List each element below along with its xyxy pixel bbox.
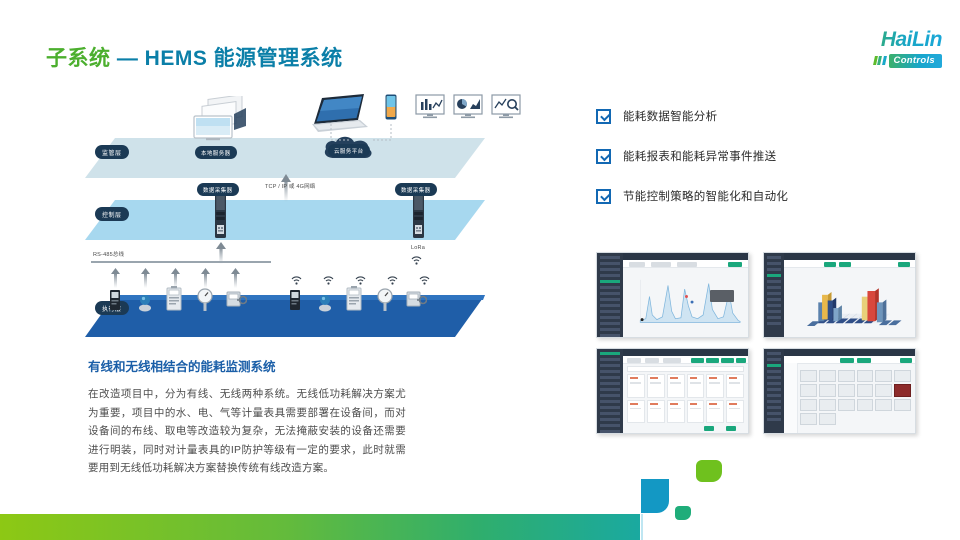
label-rs485-bus: RS-485总线 — [93, 250, 124, 258]
monitor-search-icon — [491, 94, 521, 125]
table-row — [838, 384, 855, 396]
table-row — [838, 399, 855, 411]
label-tcp-ip-4g: TCP / IP 或 4G网络 — [265, 182, 315, 190]
bottom-gradient-bar — [0, 514, 640, 540]
shot-toolbar — [784, 356, 915, 364]
page-title: 子系统 — HEMS 能源管理系统 — [46, 42, 343, 72]
wifi-icon-4 — [387, 272, 398, 281]
node-badge-collector-wireless: 数据采集器 — [395, 183, 437, 196]
checkbox-checked-icon[interactable] — [596, 109, 611, 124]
monitor-pie-icon — [453, 94, 483, 125]
table-row-empty — [857, 413, 874, 425]
logo-wordmark: HaiLin — [816, 28, 942, 52]
list-item — [706, 374, 724, 398]
meter-icon-valve-2 — [405, 288, 427, 315]
table-row — [819, 384, 836, 396]
check-item-strategy[interactable]: 节能控制策略的智能化和自动化 — [596, 188, 936, 204]
node-badge-local-server: 本地服务器 — [195, 146, 237, 159]
wifi-icon-5 — [419, 272, 430, 281]
list-item — [706, 400, 724, 424]
page-title-green: 子系统 — [46, 47, 111, 70]
cloud-link-lines — [313, 122, 403, 146]
monitor-chart-icon — [415, 94, 445, 125]
collector-device-icon-wired — [213, 194, 229, 245]
arrow-up-icon-meter-2 — [141, 268, 150, 288]
table-row — [875, 384, 892, 396]
checkbox-checked-icon[interactable] — [596, 189, 611, 204]
section-heading: 有线和无线相结合的能耗监测系统 — [88, 356, 276, 375]
shot-content — [784, 356, 915, 433]
meter-icon-water-1 — [137, 292, 153, 317]
table-row — [819, 370, 836, 382]
shot-search-field — [627, 366, 744, 372]
deco-square-blue — [641, 479, 669, 513]
feature-checklist: 能耗数据智能分析 能耗报表和能耗异常事件推送 节能控制策略的智能化和自动化 — [596, 108, 936, 228]
deco-square-teal — [675, 506, 691, 520]
arrow-up-icon-meter-5 — [231, 268, 240, 288]
table-row — [894, 370, 911, 382]
table-row — [819, 399, 836, 411]
list-item — [627, 374, 645, 398]
list-item — [687, 374, 705, 398]
meter-icon-gauge-2 — [377, 288, 393, 317]
shot-sidebar — [597, 253, 623, 337]
shot-3d-bar-chart — [788, 274, 911, 333]
check-item-report[interactable]: 能耗报表和能耗异常事件推送 — [596, 148, 936, 164]
table-row — [800, 399, 817, 411]
check-item-analysis-label: 能耗数据智能分析 — [623, 108, 717, 124]
table-row — [875, 370, 892, 382]
check-item-strategy-label: 节能控制策略的智能化和自动化 — [623, 188, 788, 204]
meter-icon-water-2 — [317, 292, 333, 317]
shot-footer-button — [704, 426, 714, 431]
shot-content — [784, 260, 915, 337]
deco-stripe — [641, 514, 643, 540]
list-item — [687, 400, 705, 424]
wifi-icon-3 — [355, 272, 366, 281]
table-row — [857, 370, 874, 382]
node-badge-collector-wired: 数据采集器 — [197, 183, 239, 196]
section-paragraph: 在改造项目中，分为有线、无线两种系统。无线低功耗解决方案尤为重要，项目中的水、电… — [88, 385, 406, 478]
list-item — [726, 374, 744, 398]
list-item — [647, 374, 665, 398]
logo-controls-label: Controls — [889, 54, 942, 68]
shot-device-panels[interactable] — [763, 348, 916, 434]
list-item — [726, 400, 744, 424]
meter-icon-electric-2 — [287, 290, 303, 317]
wifi-icon-2 — [323, 272, 334, 281]
page-title-blue: — HEMS 能源管理系统 — [117, 47, 343, 70]
collector-device-icon-wireless — [411, 194, 427, 245]
checkbox-checked-icon[interactable] — [596, 149, 611, 164]
shot-3d-bar[interactable] — [763, 252, 916, 338]
shot-device-cards[interactable] — [596, 348, 749, 434]
meter-icon-gas-2 — [345, 286, 363, 317]
shot-titlebar — [764, 253, 915, 260]
meter-icon-valve-1 — [225, 288, 247, 315]
logo-subline: Controls — [816, 54, 942, 68]
shot-line-chart — [631, 278, 742, 326]
table-row — [800, 384, 817, 396]
meter-icon-gauge-1 — [197, 288, 213, 317]
monitor-layer-plane — [85, 138, 485, 178]
phone-icon — [385, 94, 397, 125]
table-row — [894, 399, 911, 411]
list-item — [627, 400, 645, 424]
shot-content — [623, 356, 748, 433]
deco-square-green — [696, 460, 722, 482]
logo-bars-icon — [874, 56, 886, 65]
shot-toolbar — [623, 260, 748, 268]
shot-toolbar — [623, 356, 748, 364]
check-item-analysis[interactable]: 能耗数据智能分析 — [596, 108, 936, 124]
shot-tree-panel — [784, 363, 798, 433]
wifi-icon-lora — [411, 252, 422, 261]
shot-footer-button — [726, 426, 736, 431]
shot-content — [623, 260, 748, 337]
hailin-logo: HaiLin Controls — [816, 28, 942, 72]
table-row — [800, 413, 817, 425]
shot-sidebar — [764, 349, 784, 433]
table-row-empty — [875, 413, 892, 425]
shot-toolbar — [784, 260, 915, 268]
slide-root: 子系统 — HEMS 能源管理系统 HaiLin Controls — [0, 0, 960, 540]
rs485-bus-line — [91, 260, 271, 264]
shot-sidebar — [597, 349, 623, 433]
table-row-alarm — [894, 384, 911, 396]
shot-panel-grid — [800, 370, 911, 425]
shot-tooltip — [710, 290, 734, 302]
shot-energy-trend[interactable] — [596, 252, 749, 338]
arrow-up-icon-meter-4 — [201, 268, 210, 288]
label-lora: LoRa — [411, 245, 425, 251]
check-item-report-label: 能耗报表和能耗异常事件推送 — [623, 148, 776, 164]
arrow-up-icon-meter-1 — [111, 268, 120, 288]
list-item — [667, 374, 685, 398]
wifi-icon-1 — [291, 272, 302, 281]
meter-icon-gas-1 — [165, 286, 183, 317]
desktop-icon — [190, 96, 250, 147]
architecture-diagram: 监管层 控制层 执行层 本地服务器 — [85, 82, 525, 342]
shot-titlebar — [764, 349, 915, 356]
meter-icon-electric-1 — [107, 290, 123, 317]
arrow-up-icon-meter-3 — [171, 268, 180, 288]
table-row — [857, 384, 874, 396]
table-row — [875, 399, 892, 411]
table-row-empty — [894, 413, 911, 425]
shot-card-grid — [627, 374, 744, 423]
list-item — [647, 400, 665, 424]
list-item — [667, 400, 685, 424]
layer-badge-control: 控制层 — [95, 207, 129, 221]
table-row — [800, 370, 817, 382]
table-row — [838, 370, 855, 382]
table-row — [819, 413, 836, 425]
table-row — [857, 399, 874, 411]
shot-sidebar — [764, 253, 784, 337]
layer-badge-monitor: 监管层 — [95, 145, 129, 159]
arrow-up-icon-collector — [216, 242, 225, 262]
table-row-empty — [838, 413, 855, 425]
screenshot-gallery — [596, 252, 920, 438]
